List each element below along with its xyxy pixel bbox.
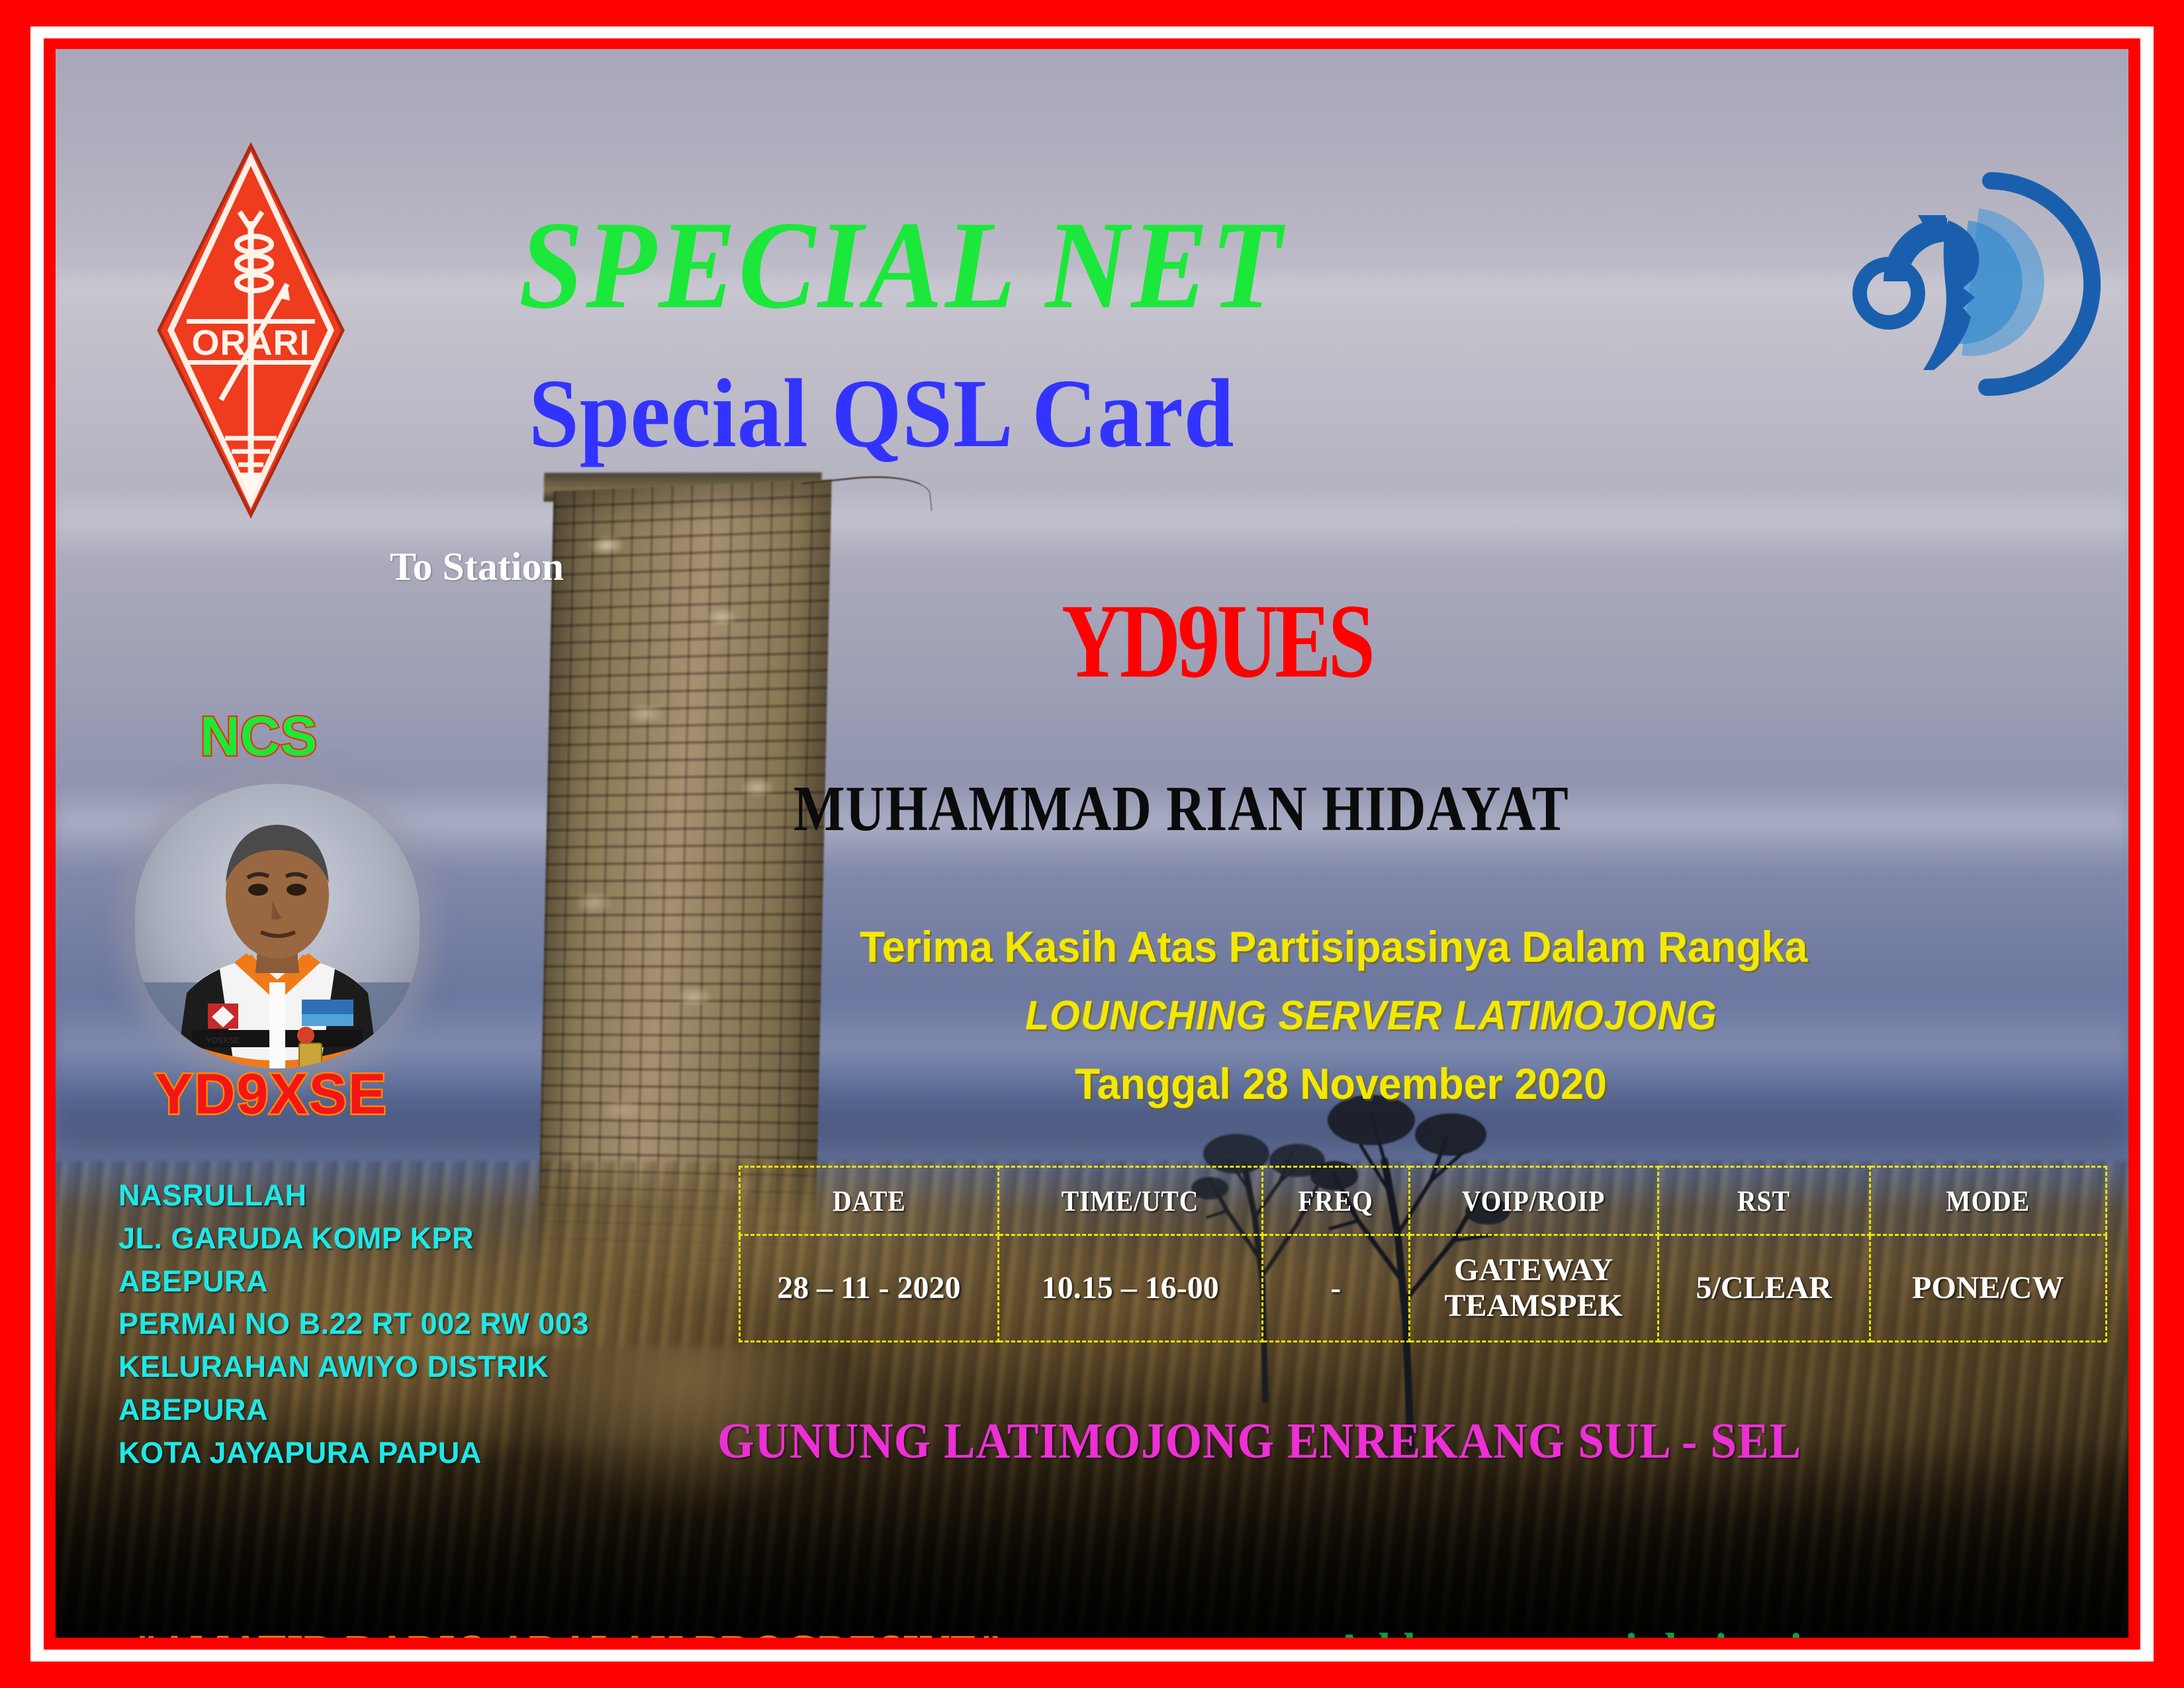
cell-rst: 5/CLEAR — [1658, 1235, 1870, 1342]
footer-slogan: "AMATIR RADIO ADALAH PROGRESIVE" — [135, 1624, 1003, 1638]
headset-operator-icon — [1849, 152, 2114, 416]
col-header-voip-roip: VOIP/ROIP — [1422, 1167, 1645, 1235]
location-text: GUNUNG LATIMOJONG ENREKANG SUL - SEL — [717, 1413, 1801, 1470]
col-header-rst: RST — [1668, 1167, 1859, 1235]
address-line: NASRULLAH — [118, 1174, 589, 1217]
address-line: KELURAHAN AWIYO DISTRIK — [118, 1346, 589, 1389]
col-header-freq: FREQ — [1269, 1167, 1402, 1235]
cell-time: 10.15 – 16-00 — [998, 1235, 1262, 1342]
station-callsign: YD9UES — [1062, 580, 1372, 702]
event-date-line: Tanggal 28 November 2020 — [1075, 1058, 1607, 1109]
table-header-row: DATE TIME/UTC FREQ VOIP/ROIP RST MODE — [740, 1167, 2107, 1235]
to-station-label: To Station — [390, 544, 564, 590]
address-line: JL. GARUDA KOMP KPR — [118, 1217, 589, 1260]
address-line: KOTA JAYAPURA PAPUA — [118, 1432, 589, 1475]
page-subtitle: Special QSL Card — [529, 357, 1234, 470]
event-thanks-line: Terima Kasih Atas Partisipasinya Dalam R… — [860, 921, 1807, 972]
operator-avatar: YD9XSE — [135, 784, 420, 1068]
address-line: ABEPURA — [118, 1389, 589, 1432]
cell-date: 28 – 11 - 2020 — [740, 1235, 999, 1342]
cell-voip-line1: GATEWAY — [1410, 1252, 1657, 1288]
cell-voip-roip: GATEWAY TEAMSPEK — [1409, 1235, 1658, 1342]
col-header-date: DATE — [752, 1167, 985, 1235]
col-header-mode: MODE — [1882, 1167, 2095, 1235]
footer-web-address: Address : amatir.latimojong.com — [1333, 1623, 1964, 1638]
card-background-photo: ORARI SPECIAL NET Spe — [56, 49, 2128, 1638]
ncs-label: NCS — [200, 704, 317, 769]
cloud-band — [56, 486, 2128, 559]
orari-logo: ORARI — [155, 142, 347, 519]
cell-freq: - — [1262, 1235, 1409, 1342]
table-row: 28 – 11 - 2020 10.15 – 16-00 - GATEWAY T… — [740, 1235, 2107, 1342]
address-line: ABEPURA — [118, 1260, 589, 1303]
svg-text:YD9XSE: YD9XSE — [206, 1035, 240, 1045]
svg-text:ORARI: ORARI — [192, 323, 310, 363]
address-line: PERMAI NO B.22 RT 002 RW 003 — [118, 1303, 589, 1346]
page-title: SPECIAL NET — [519, 193, 1284, 338]
qsl-card: ORARI SPECIAL NET Spe — [0, 0, 2184, 1688]
operator-name: MUHAMMAD RIAN HIDAYAT — [794, 772, 1569, 846]
event-title-line: LOUNCHING SERVER LATIMOJONG — [1025, 992, 1717, 1039]
col-header-time: TIME/UTC — [1011, 1167, 1249, 1235]
ncs-callsign: YD9XSE — [155, 1062, 387, 1127]
cell-mode: PONE/CW — [1870, 1235, 2106, 1342]
postal-address: NASRULLAH JL. GARUDA KOMP KPR ABEPURA PE… — [118, 1174, 589, 1475]
qso-table: DATE TIME/UTC FREQ VOIP/ROIP RST MODE 28… — [739, 1166, 2107, 1342]
cell-voip-line2: TEAMSPEK — [1410, 1288, 1657, 1324]
